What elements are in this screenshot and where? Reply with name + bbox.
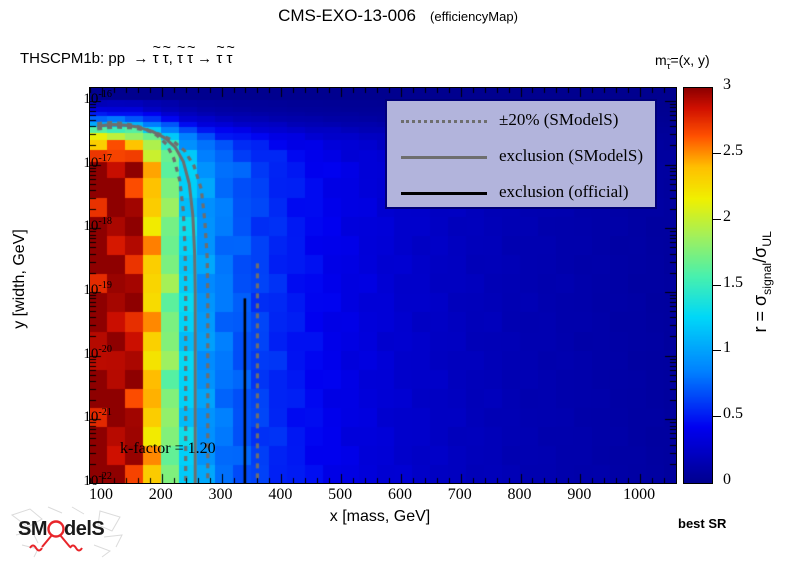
colorbar-tick (713, 219, 721, 220)
colorbar-gradient (684, 88, 712, 483)
legend-swatch (401, 156, 487, 159)
mass-definition: mτ~=(x, y) (655, 52, 710, 72)
x-axis-tick-label: 400 (250, 486, 310, 504)
x-axis-tick-label: 700 (430, 486, 490, 504)
best-sr-label: best SR (678, 516, 726, 531)
colorbar-tick (713, 350, 721, 351)
process-description: THSCPM1b: pp → τ~ τ~, τ~ τ~ → τ~ τ~ (20, 50, 232, 67)
x-axis-tick-label: 800 (490, 486, 550, 504)
colorbar-tick-label: 3 (723, 76, 731, 94)
y-axis-tick-label: 10-19 (83, 280, 112, 299)
colorbar-tick-label: 0.5 (723, 405, 743, 423)
colorbar-label: r = σsignal/σUL (750, 132, 774, 432)
y-axis-tick-label: 10-18 (83, 216, 112, 235)
legend-item: ±20% (SModelS) (387, 103, 659, 139)
y-axis-label: y [width, GeV] (11, 109, 29, 449)
x-axis-tick-label: 100 (71, 486, 131, 504)
y-axis-tick-label: 10-20 (83, 344, 112, 363)
process-decay-chain: → τ~ τ~, τ~ τ~ → τ~ τ~ (129, 50, 232, 67)
colorbar-tick (713, 153, 721, 154)
svg-text:delS: delS (64, 518, 104, 540)
result-type: (efficiencyMap) (430, 9, 518, 24)
colorbar-tick (713, 416, 721, 417)
colorbar-tick-label: 2 (723, 208, 731, 226)
legend-swatch (401, 192, 487, 195)
x-axis-tick-label: 900 (549, 486, 609, 504)
x-axis-tick-label: 500 (310, 486, 370, 504)
x-axis-tick-label: 300 (191, 486, 251, 504)
colorbar-tick-label: 1 (723, 339, 731, 357)
legend-item: exclusion (official) (387, 175, 659, 211)
y-axis-tick-label: 10-16 (83, 89, 112, 108)
colorbar-tick-label: 2.5 (723, 142, 743, 160)
svg-text:SM: SM (18, 518, 47, 540)
page-title: CMS-EXO-13-006(efficiencyMap) (0, 6, 796, 26)
y-axis-tick-label: 10-17 (83, 153, 112, 172)
smodels-logo: SM delS (8, 505, 128, 561)
colorbar-tick-label: 0 (723, 471, 731, 489)
colorbar (683, 87, 713, 484)
legend-item-label: exclusion (official) (499, 182, 653, 202)
analysis-id: CMS-EXO-13-006 (278, 6, 416, 25)
k-factor-annotation: k-factor = 1.20 (120, 440, 216, 458)
x-axis-tick-label: 1000 (609, 486, 669, 504)
colorbar-tick-label: 1.5 (723, 274, 743, 292)
process-prefix: THSCPM1b: pp (20, 50, 125, 67)
legend-item-label: exclusion (SModelS) (499, 146, 653, 166)
x-axis-tick-label: 200 (131, 486, 191, 504)
legend-item: exclusion (SModelS) (387, 139, 659, 175)
legend: ±20% (SModelS)exclusion (SModelS)exclusi… (385, 99, 657, 209)
y-axis-tick-label: 10-21 (83, 407, 112, 426)
x-axis-tick-label: 600 (370, 486, 430, 504)
legend-swatch (401, 120, 487, 123)
legend-item-label: ±20% (SModelS) (499, 110, 653, 130)
colorbar-tick (713, 285, 721, 286)
